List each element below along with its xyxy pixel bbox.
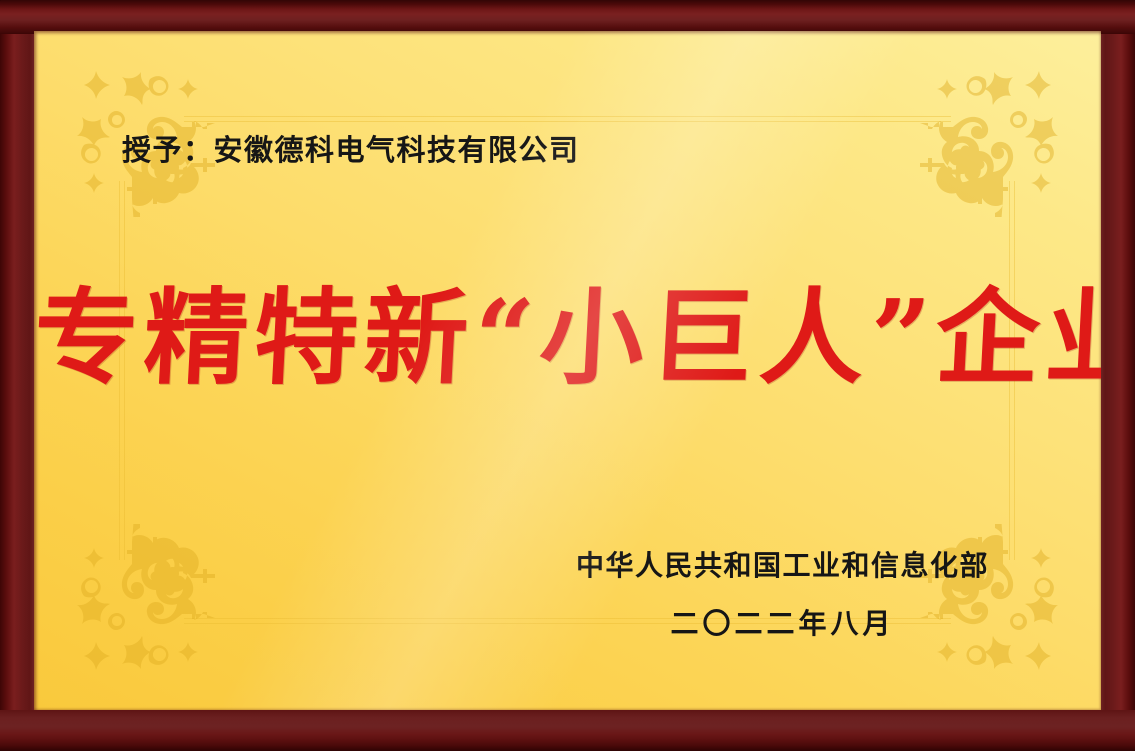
- frame-bottom-bevel: [0, 710, 1135, 751]
- border-rule-top: [184, 116, 951, 123]
- corner-ornament-bottom-left-icon: [54, 524, 222, 692]
- issuer-block: 中华人民共和国工业和信息化部 二〇二二年八月: [576, 544, 989, 642]
- award-plaque: 授予：安徽德科电气科技有限公司 专精特新“小巨人”企业 中华人民共和国工业和信息…: [0, 0, 1135, 751]
- gold-panel: 授予：安徽德科电气科技有限公司 专精特新“小巨人”企业 中华人民共和国工业和信息…: [34, 31, 1101, 710]
- corner-ornament-top-right-icon: [913, 49, 1081, 217]
- award-title: 专精特新“小巨人”企业: [34, 277, 1101, 400]
- awardee-line: 授予：安徽德科电气科技有限公司: [122, 127, 580, 169]
- frame-top-bevel: [0, 0, 1135, 34]
- issue-date: 二〇二二年八月: [576, 602, 989, 642]
- issuing-authority: 中华人民共和国工业和信息化部: [576, 544, 989, 584]
